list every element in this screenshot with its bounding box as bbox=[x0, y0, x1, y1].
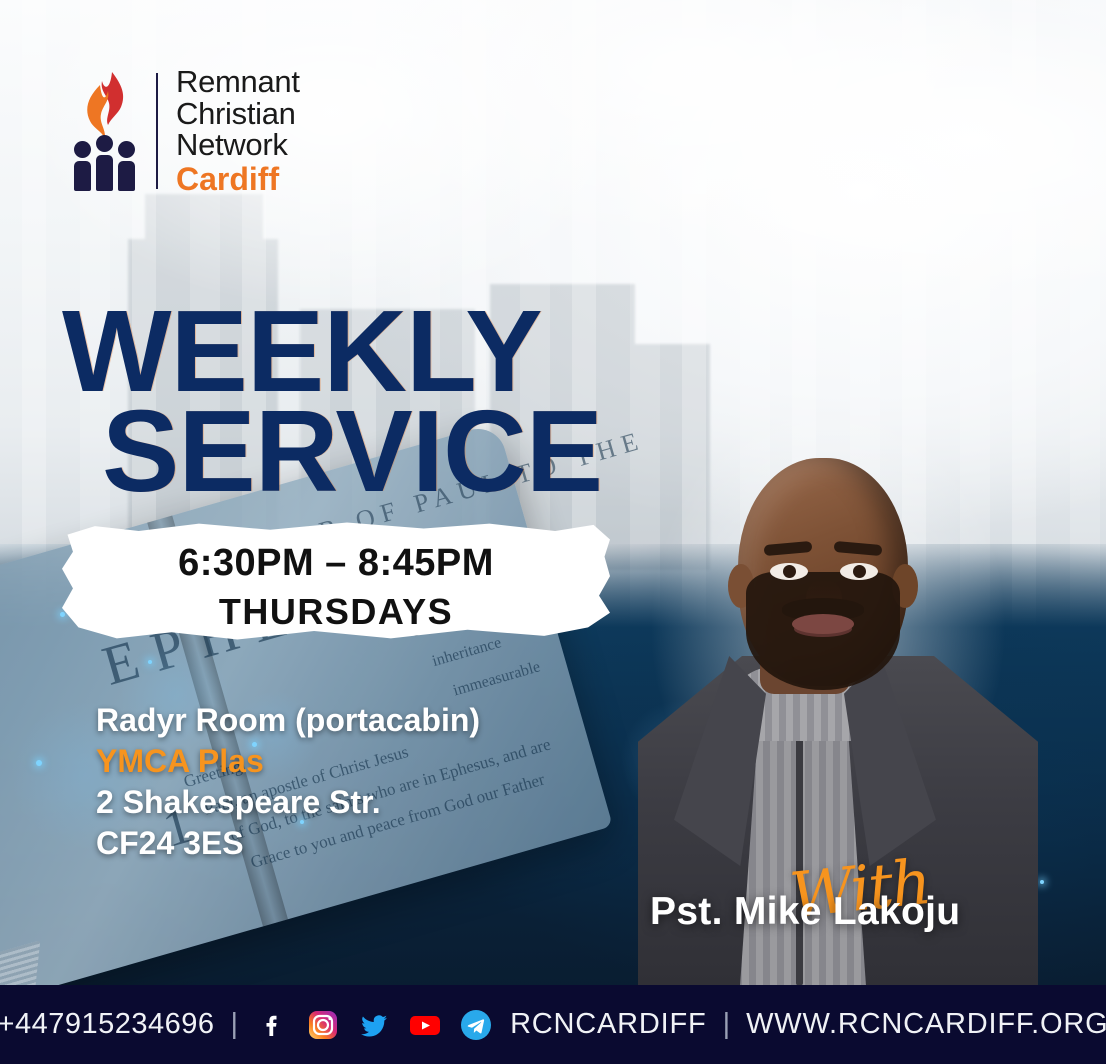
twitter-icon[interactable] bbox=[356, 1007, 392, 1043]
flame-icon bbox=[78, 71, 136, 145]
three-people-icon bbox=[74, 135, 135, 191]
website-url[interactable]: WWW.RCNCARDIFF.ORG bbox=[746, 1008, 1106, 1041]
brand-logo: Remnant Christian Network Cardiff bbox=[72, 66, 300, 195]
telegram-icon[interactable] bbox=[458, 1007, 494, 1043]
footer-separator-2: | bbox=[723, 1008, 731, 1041]
logo-line-3: Network bbox=[176, 129, 300, 161]
logo-line-2: Christian bbox=[176, 98, 300, 130]
address-line-1: Radyr Room (portacabin) bbox=[96, 700, 480, 741]
page-title: WEEKLY SERVICE bbox=[62, 302, 602, 502]
speaker-name: Pst. Mike Lakoju bbox=[650, 890, 960, 934]
address-postcode: CF24 3ES bbox=[96, 823, 480, 864]
service-day: THURSDAYS bbox=[62, 591, 610, 633]
instagram-icon[interactable] bbox=[305, 1007, 341, 1043]
flame-with-three-people-icon bbox=[72, 71, 138, 191]
contact-footer: +447915234696 | bbox=[0, 985, 1106, 1064]
logo-city: Cardiff bbox=[176, 163, 300, 196]
social-handle[interactable]: RCNCARDIFF bbox=[510, 1008, 707, 1041]
logo-divider bbox=[156, 73, 158, 189]
address-line-2: YMCA Plas bbox=[96, 741, 480, 782]
address-line-3: 2 Shakespeare Str. bbox=[96, 782, 480, 823]
youtube-icon[interactable] bbox=[407, 1007, 443, 1043]
social-links bbox=[254, 1007, 494, 1043]
phone-number[interactable]: +447915234696 bbox=[0, 1008, 215, 1041]
service-time: 6:30PM – 8:45PM bbox=[62, 542, 610, 585]
footer-separator: | bbox=[231, 1008, 239, 1041]
logo-line-1: Remnant bbox=[176, 66, 300, 98]
headline-line-2: SERVICE bbox=[102, 402, 602, 502]
schedule-banner: 6:30PM – 8:45PM THURSDAYS bbox=[62, 520, 610, 642]
facebook-icon[interactable] bbox=[254, 1007, 290, 1043]
venue-address: Radyr Room (portacabin) YMCA Plas 2 Shak… bbox=[96, 700, 480, 864]
flyer-canvas: THE LETTER OF PAUL TO THE EPHESIANS 1 Gr… bbox=[0, 0, 1106, 1064]
